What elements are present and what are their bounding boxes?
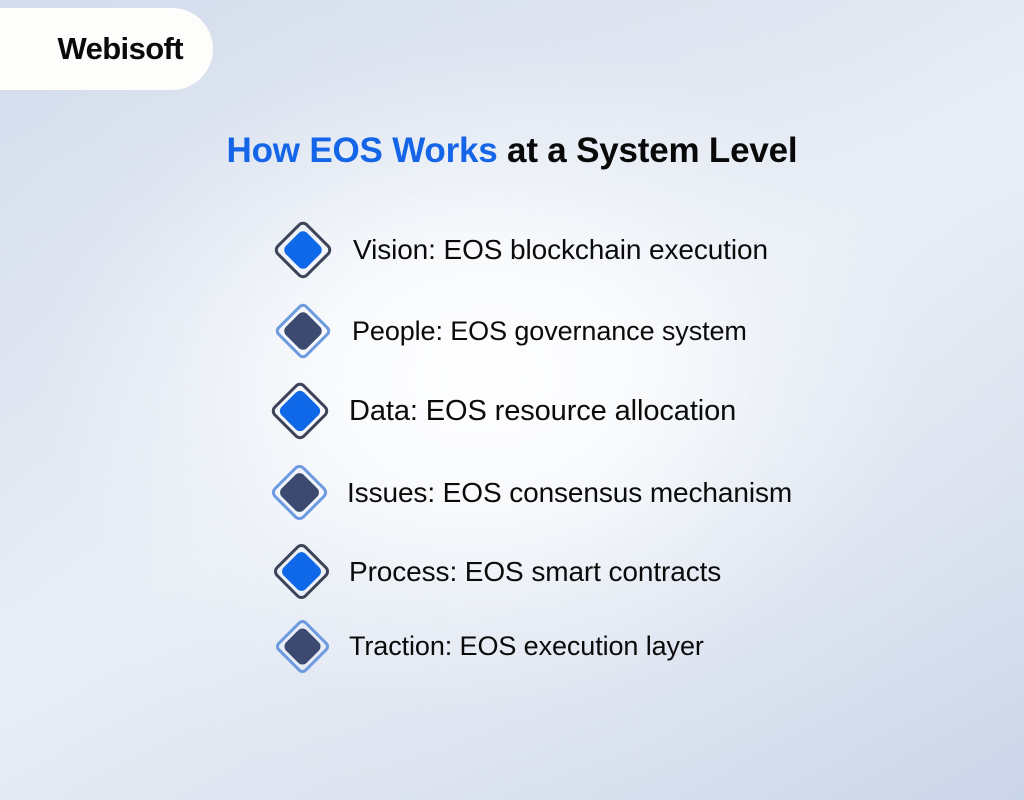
diamond-dark-icon	[276, 304, 330, 358]
list-item[interactable]: Data: EOS resource allocation	[271, 382, 736, 440]
list-item-label: Process: EOS smart contracts	[349, 556, 721, 588]
brand-logo-text: Webisoft	[57, 31, 183, 67]
page-title-rest: at a System Level	[498, 131, 798, 170]
list-item[interactable]: Process: EOS smart contracts	[274, 544, 721, 599]
page-title: How EOS Works at a System Level	[0, 131, 1024, 171]
diamond-dark-icon	[276, 620, 329, 673]
diamond-dark-icon	[272, 465, 327, 520]
list-item-label: Traction: EOS execution layer	[349, 631, 704, 662]
diamond-blue-icon	[271, 382, 329, 440]
list-item-label: Vision: EOS blockchain execution	[353, 234, 768, 266]
list-item-label: Issues: EOS consensus mechanism	[347, 477, 792, 509]
slide-canvas: Webisoft How EOS Works at a System Level…	[0, 0, 1024, 800]
list-item[interactable]: People: EOS governance system	[276, 304, 747, 358]
diamond-blue-icon	[274, 544, 329, 599]
diamond-blue-icon	[275, 222, 331, 278]
list-item-label: Data: EOS resource allocation	[349, 395, 736, 428]
list-item[interactable]: Vision: EOS blockchain execution	[275, 222, 768, 278]
page-title-accent: How EOS Works	[227, 131, 498, 170]
list-item[interactable]: Traction: EOS execution layer	[276, 620, 704, 673]
list-item-label: People: EOS governance system	[352, 316, 747, 347]
brand-logo-badge: Webisoft	[0, 8, 213, 90]
list-item[interactable]: Issues: EOS consensus mechanism	[272, 465, 792, 520]
